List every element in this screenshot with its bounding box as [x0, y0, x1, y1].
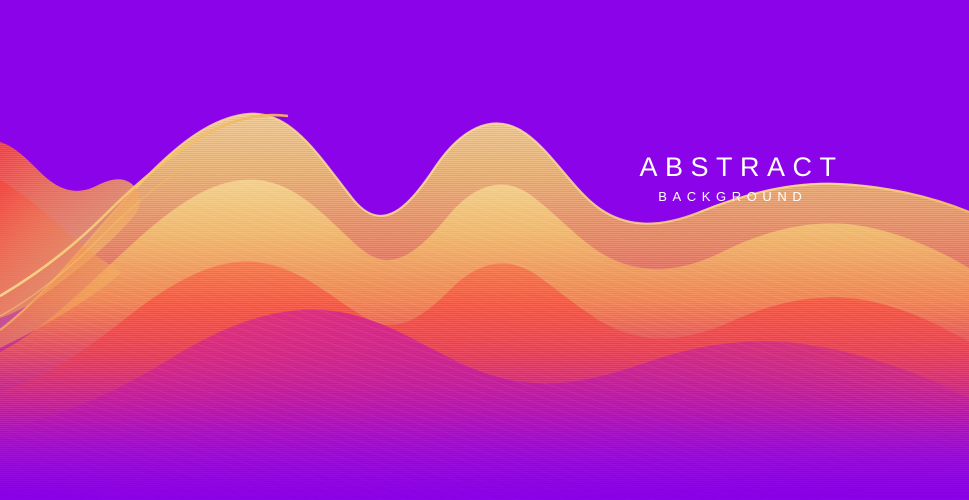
abstract-background-canvas: ABSTRACT BACKGROUND	[0, 0, 969, 500]
abstract-wave-artwork	[0, 0, 969, 500]
